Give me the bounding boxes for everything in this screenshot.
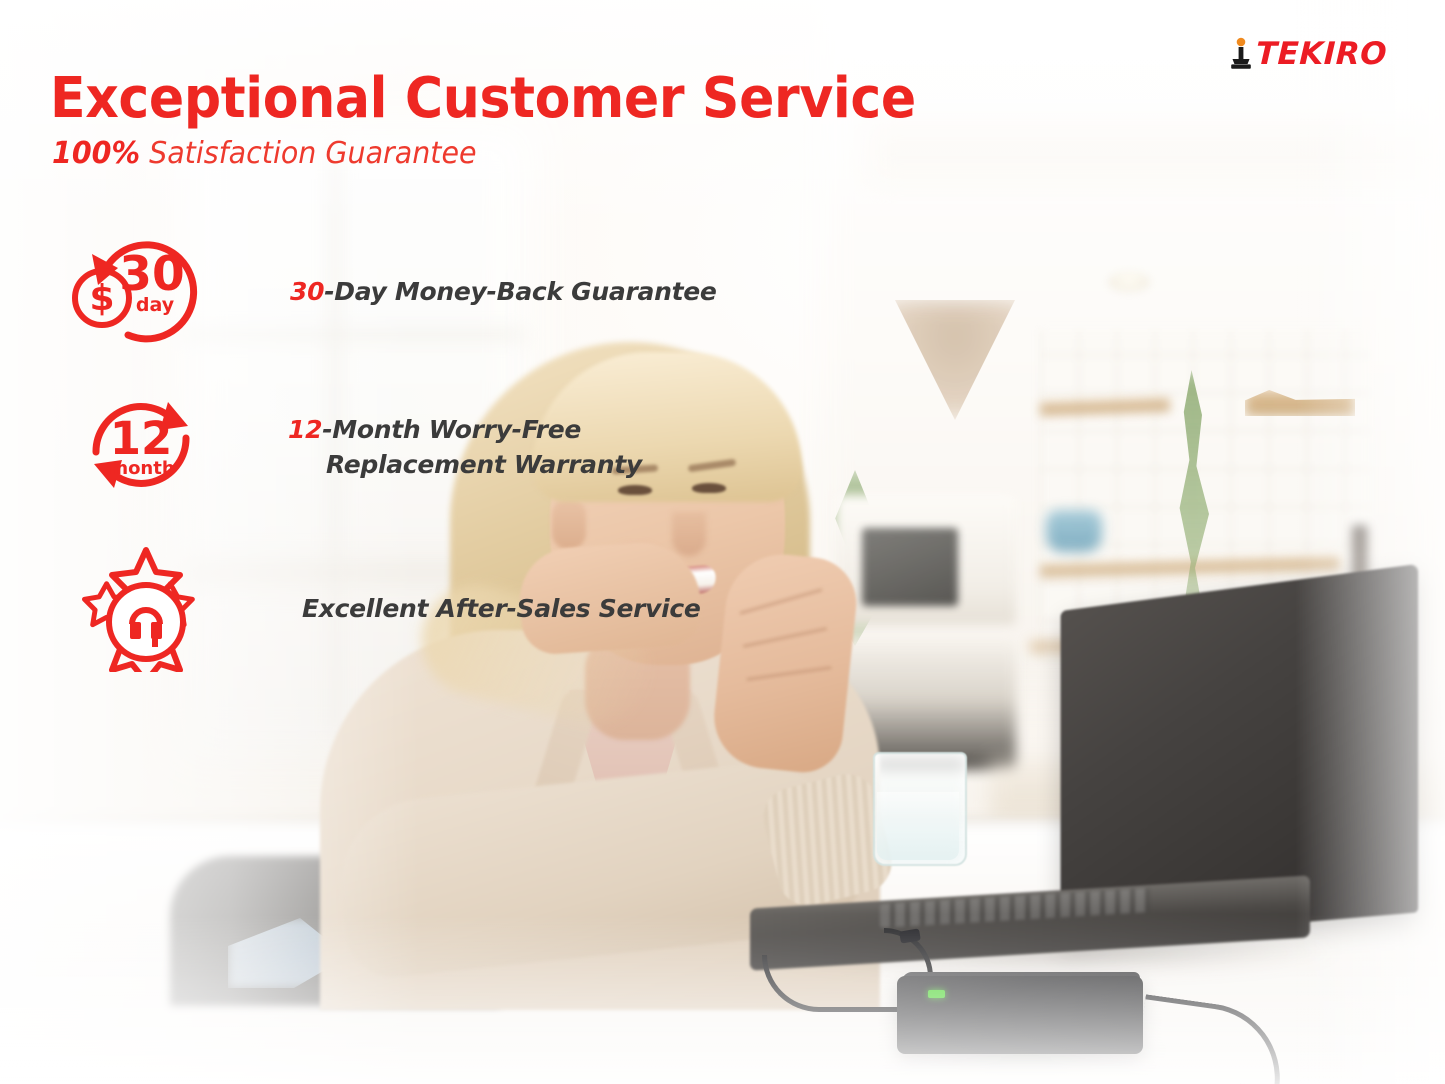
- ceiling-band: [870, 120, 1445, 180]
- icon-unit-day: day: [136, 294, 175, 316]
- ceiling-light-icon: [1108, 272, 1150, 292]
- after-sales-service-badge-icon: [76, 542, 216, 677]
- feature-line-2: Replacement Warranty: [288, 450, 642, 479]
- twelve-month-warranty-icon: 12 month: [78, 386, 204, 509]
- feature-item-warranty: 12 month 12-Month Worry-Free Replacement…: [78, 386, 642, 509]
- icon-unit-month: month: [109, 458, 174, 479]
- marketing-banner: TEKIRO Exceptional Customer Service 100%…: [0, 0, 1445, 1084]
- adapter-led-indicator: [928, 990, 945, 998]
- brand-logo[interactable]: TEKIRO: [1228, 36, 1387, 72]
- subtitle-rest: Satisfaction Guarantee: [140, 136, 476, 171]
- power-adapter-brick: [897, 976, 1143, 1054]
- eye-right: [692, 483, 726, 493]
- page-title: Exceptional Customer Service: [50, 66, 916, 131]
- page-subtitle: 100% Satisfaction Guarantee: [52, 136, 477, 171]
- feature-item-after-sales: Excellent After-Sales Service: [76, 542, 701, 677]
- subtitle-percent: 100%: [52, 136, 140, 171]
- feature-line-1: 12-Month Worry-Free: [288, 415, 581, 444]
- water-level: [877, 792, 959, 860]
- blue-pot: [1046, 510, 1102, 552]
- feature-item-money-back: $ 30 day 30-Day Money-Back Guarantee: [70, 228, 717, 357]
- brand-logo-text: TEKIRO: [1255, 36, 1387, 72]
- hand-on-chin: [709, 549, 861, 776]
- tekiro-torch-mark-icon: [1228, 37, 1254, 71]
- feature-text-rest: -Day Money-Back Guarantee: [324, 277, 716, 306]
- feature-text-rest: -Month Worry-Free: [322, 415, 581, 444]
- feature-label-money-back: 30-Day Money-Back Guarantee: [290, 275, 717, 310]
- feature-label-after-sales: Excellent After-Sales Service: [302, 592, 701, 627]
- svg-text:$: $: [89, 278, 114, 319]
- feature-number: 30: [290, 277, 324, 306]
- thirty-day-money-back-icon: $ 30 day: [70, 228, 206, 357]
- feature-number: 12: [288, 415, 322, 444]
- feature-label-warranty: 12-Month Worry-Free Replacement Warranty: [288, 413, 642, 482]
